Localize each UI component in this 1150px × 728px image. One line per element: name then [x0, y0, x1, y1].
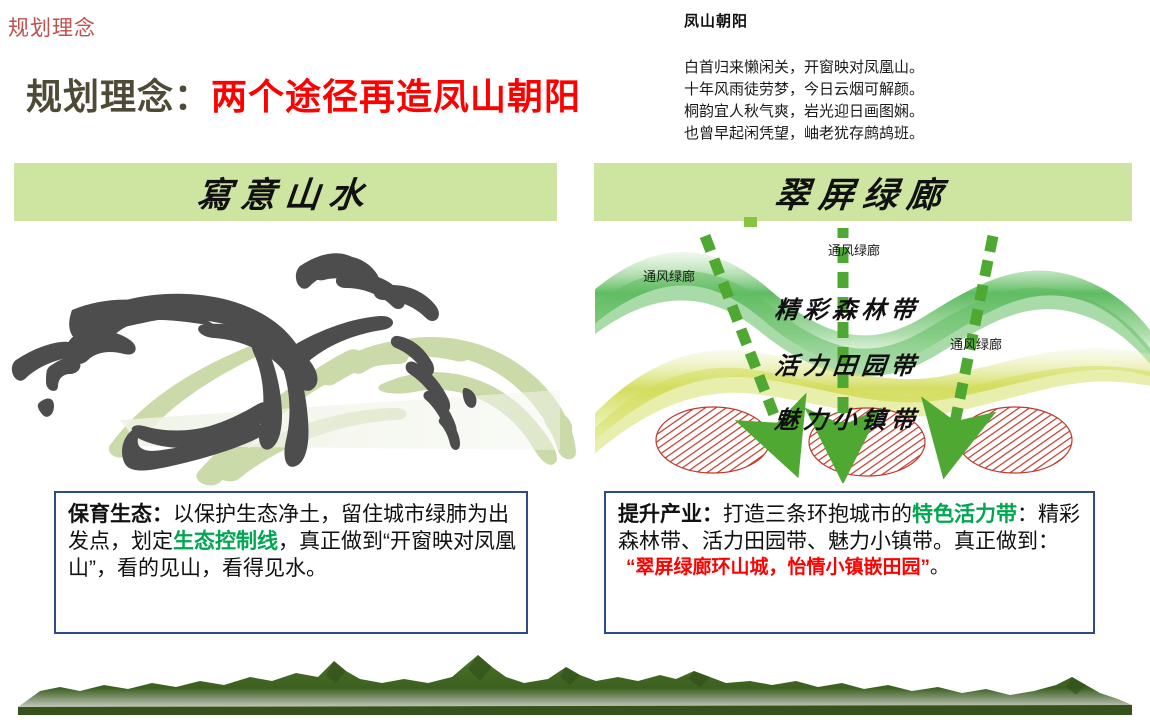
text-box-right-red-tail: 。 [930, 557, 949, 578]
vent-label-2: 通风绿廊 [828, 240, 880, 259]
text-box-right-colon: ： [702, 503, 723, 526]
band-label-field: 活力田园带 [773, 346, 922, 381]
text-box-left-green-term: 生态控制线 [173, 530, 278, 553]
ink-landscape-svg [0, 240, 580, 490]
text-box-left-paragraph: 保育生态：以保护生态净土，留住城市绿肺为出发点，划定生态控制线，真正做到“开窗映… [68, 501, 516, 582]
banner-left: 寫意山水 [14, 163, 557, 221]
banner-right: 翠屏绿廊 [594, 163, 1132, 221]
breadcrumb: 规划理念 [8, 12, 96, 42]
page-title-prefix: 规划理念： [26, 76, 211, 117]
banner-right-label: 翠屏绿廊 [772, 167, 953, 218]
poem-body: 白首归来懒闲关，开窗映对凤凰山。 十年风雨徒劳梦，今日云烟可解颜。 桐韵宜人秋气… [684, 57, 1014, 145]
text-box-left: 保育生态：以保护生态净土，留住城市绿肺为出发点，划定生态控制线，真正做到“开窗映… [54, 491, 528, 634]
text-box-right-slogan-line: “翠屏绿廊环山城，怡情小镇嵌田园”。 [618, 555, 1083, 581]
poem-line: 也曾早起闲凭望，岫老犹存鹧鸪班。 [684, 123, 1014, 145]
text-box-right-paragraph: 提升产业：打造三条环抱城市的特色活力带：精彩森林带、活力田园带、魅力小镇带。真正… [618, 501, 1083, 555]
poem-block: 凤山朝阳 白首归来懒闲关，开窗映对凤凰山。 十年风雨徒劳梦，今日云烟可解颜。 桐… [684, 10, 1014, 145]
terrain-svg [0, 645, 1150, 723]
band-label-forest: 精彩森林带 [773, 290, 922, 325]
terrain-silhouette [0, 645, 1150, 723]
text-box-right: 提升产业：打造三条环抱城市的特色活力带：精彩森林带、活力田园带、魅力小镇带。真正… [604, 491, 1095, 634]
text-box-left-colon: ： [152, 503, 173, 526]
vent-label-3: 通风绿廊 [950, 334, 1002, 353]
banner-left-label: 寫意山水 [195, 167, 376, 218]
page-title: 规划理念：两个途径再造凤山朝阳 [26, 68, 581, 120]
poem-line: 白首归来懒闲关，开窗映对凤凰山。 [684, 57, 1014, 79]
slide-root: 规划理念 规划理念：两个途径再造凤山朝阳 凤山朝阳 白首归来懒闲关，开窗映对凤凰… [0, 0, 1150, 725]
green-corridor-diagram: 通风绿廊 通风绿廊 通风绿廊 精彩森林带 活力田园带 魅力小镇带 [595, 228, 1150, 483]
banner-nub-marker [744, 217, 757, 227]
text-box-right-red-quote: “翠屏绿廊环山城，怡情小镇嵌田园” [626, 557, 930, 578]
poem-title: 凤山朝阳 [684, 10, 1014, 31]
poem-line: 桐韵宜人秋气爽，岩光迎日画图娴。 [684, 101, 1014, 123]
vent-label-1: 通风绿廊 [643, 266, 695, 285]
band-label-town: 魅力小镇带 [773, 400, 922, 435]
text-box-right-green-term: 特色活力带 [912, 503, 1017, 526]
page-title-highlight: 两个途径再造凤山朝阳 [211, 76, 581, 117]
text-box-right-seg1: 打造三条环抱城市的 [723, 503, 912, 526]
poem-line: 十年风雨徒劳梦，今日云烟可解颜。 [684, 79, 1014, 101]
ink-landscape-painting [0, 240, 580, 490]
text-box-right-heading: 提升产业 [618, 503, 702, 526]
text-box-left-heading: 保育生态 [68, 503, 152, 526]
